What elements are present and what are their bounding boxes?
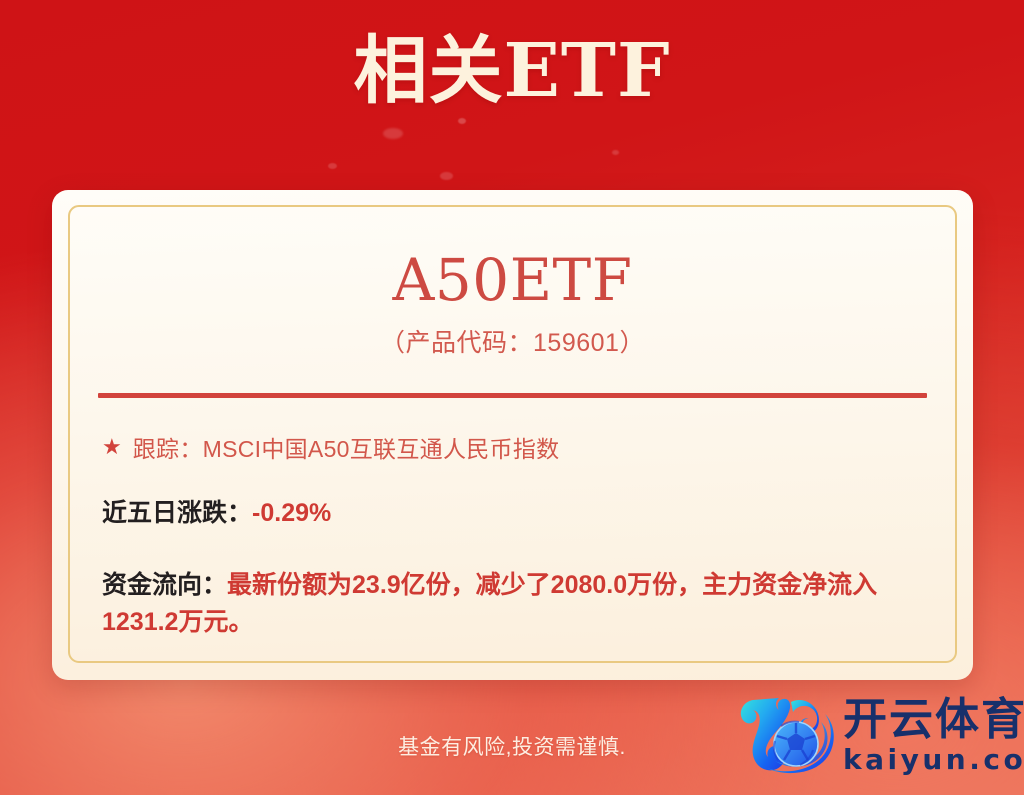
brand-logo: 开云体育 kaiyun.com [733,686,1018,786]
bokeh-dot [458,118,466,124]
card-body: A50ETF （产品代码：159601） ★ 跟踪：MSCI中国A50互联互通人… [98,222,927,650]
brand-name-cn: 开云体育 [843,697,1024,743]
star-icon: ★ [102,436,122,458]
bokeh-dot [440,172,453,180]
brand-name-en: kaiyun.com [843,745,1024,776]
kaiyun-k-swoosh-icon [733,688,837,784]
etf-name: A50ETF [98,250,927,311]
brand-text: 开云体育 kaiyun.com [843,697,1024,776]
capital-flow-label: 资金流向： [102,571,227,599]
five-day-change-label: 近五日涨跌： [102,499,252,527]
etf-info-card: A50ETF （产品代码：159601） ★ 跟踪：MSCI中国A50互联互通人… [52,190,973,680]
tracking-index-text: 跟踪：MSCI中国A50互联互通人民币指数 [133,430,560,464]
capital-flow-row: 资金流向：最新份额为23.9亿份，减少了2080.0万份，主力资金净流入1231… [98,567,927,642]
five-day-change-value: -0.29% [252,499,331,527]
card-divider [98,393,927,398]
bokeh-dot [612,150,619,155]
etf-product-code: （产品代码：159601） [98,323,927,359]
five-day-change-row: 近五日涨跌：-0.29% [98,497,927,531]
bokeh-dot [383,128,403,139]
page-title: 相关ETF [0,34,1024,108]
bokeh-dot [328,163,337,169]
page-header: 相关ETF [0,34,1024,108]
tracking-index-row: ★ 跟踪：MSCI中国A50互联互通人民币指数 [98,430,927,464]
